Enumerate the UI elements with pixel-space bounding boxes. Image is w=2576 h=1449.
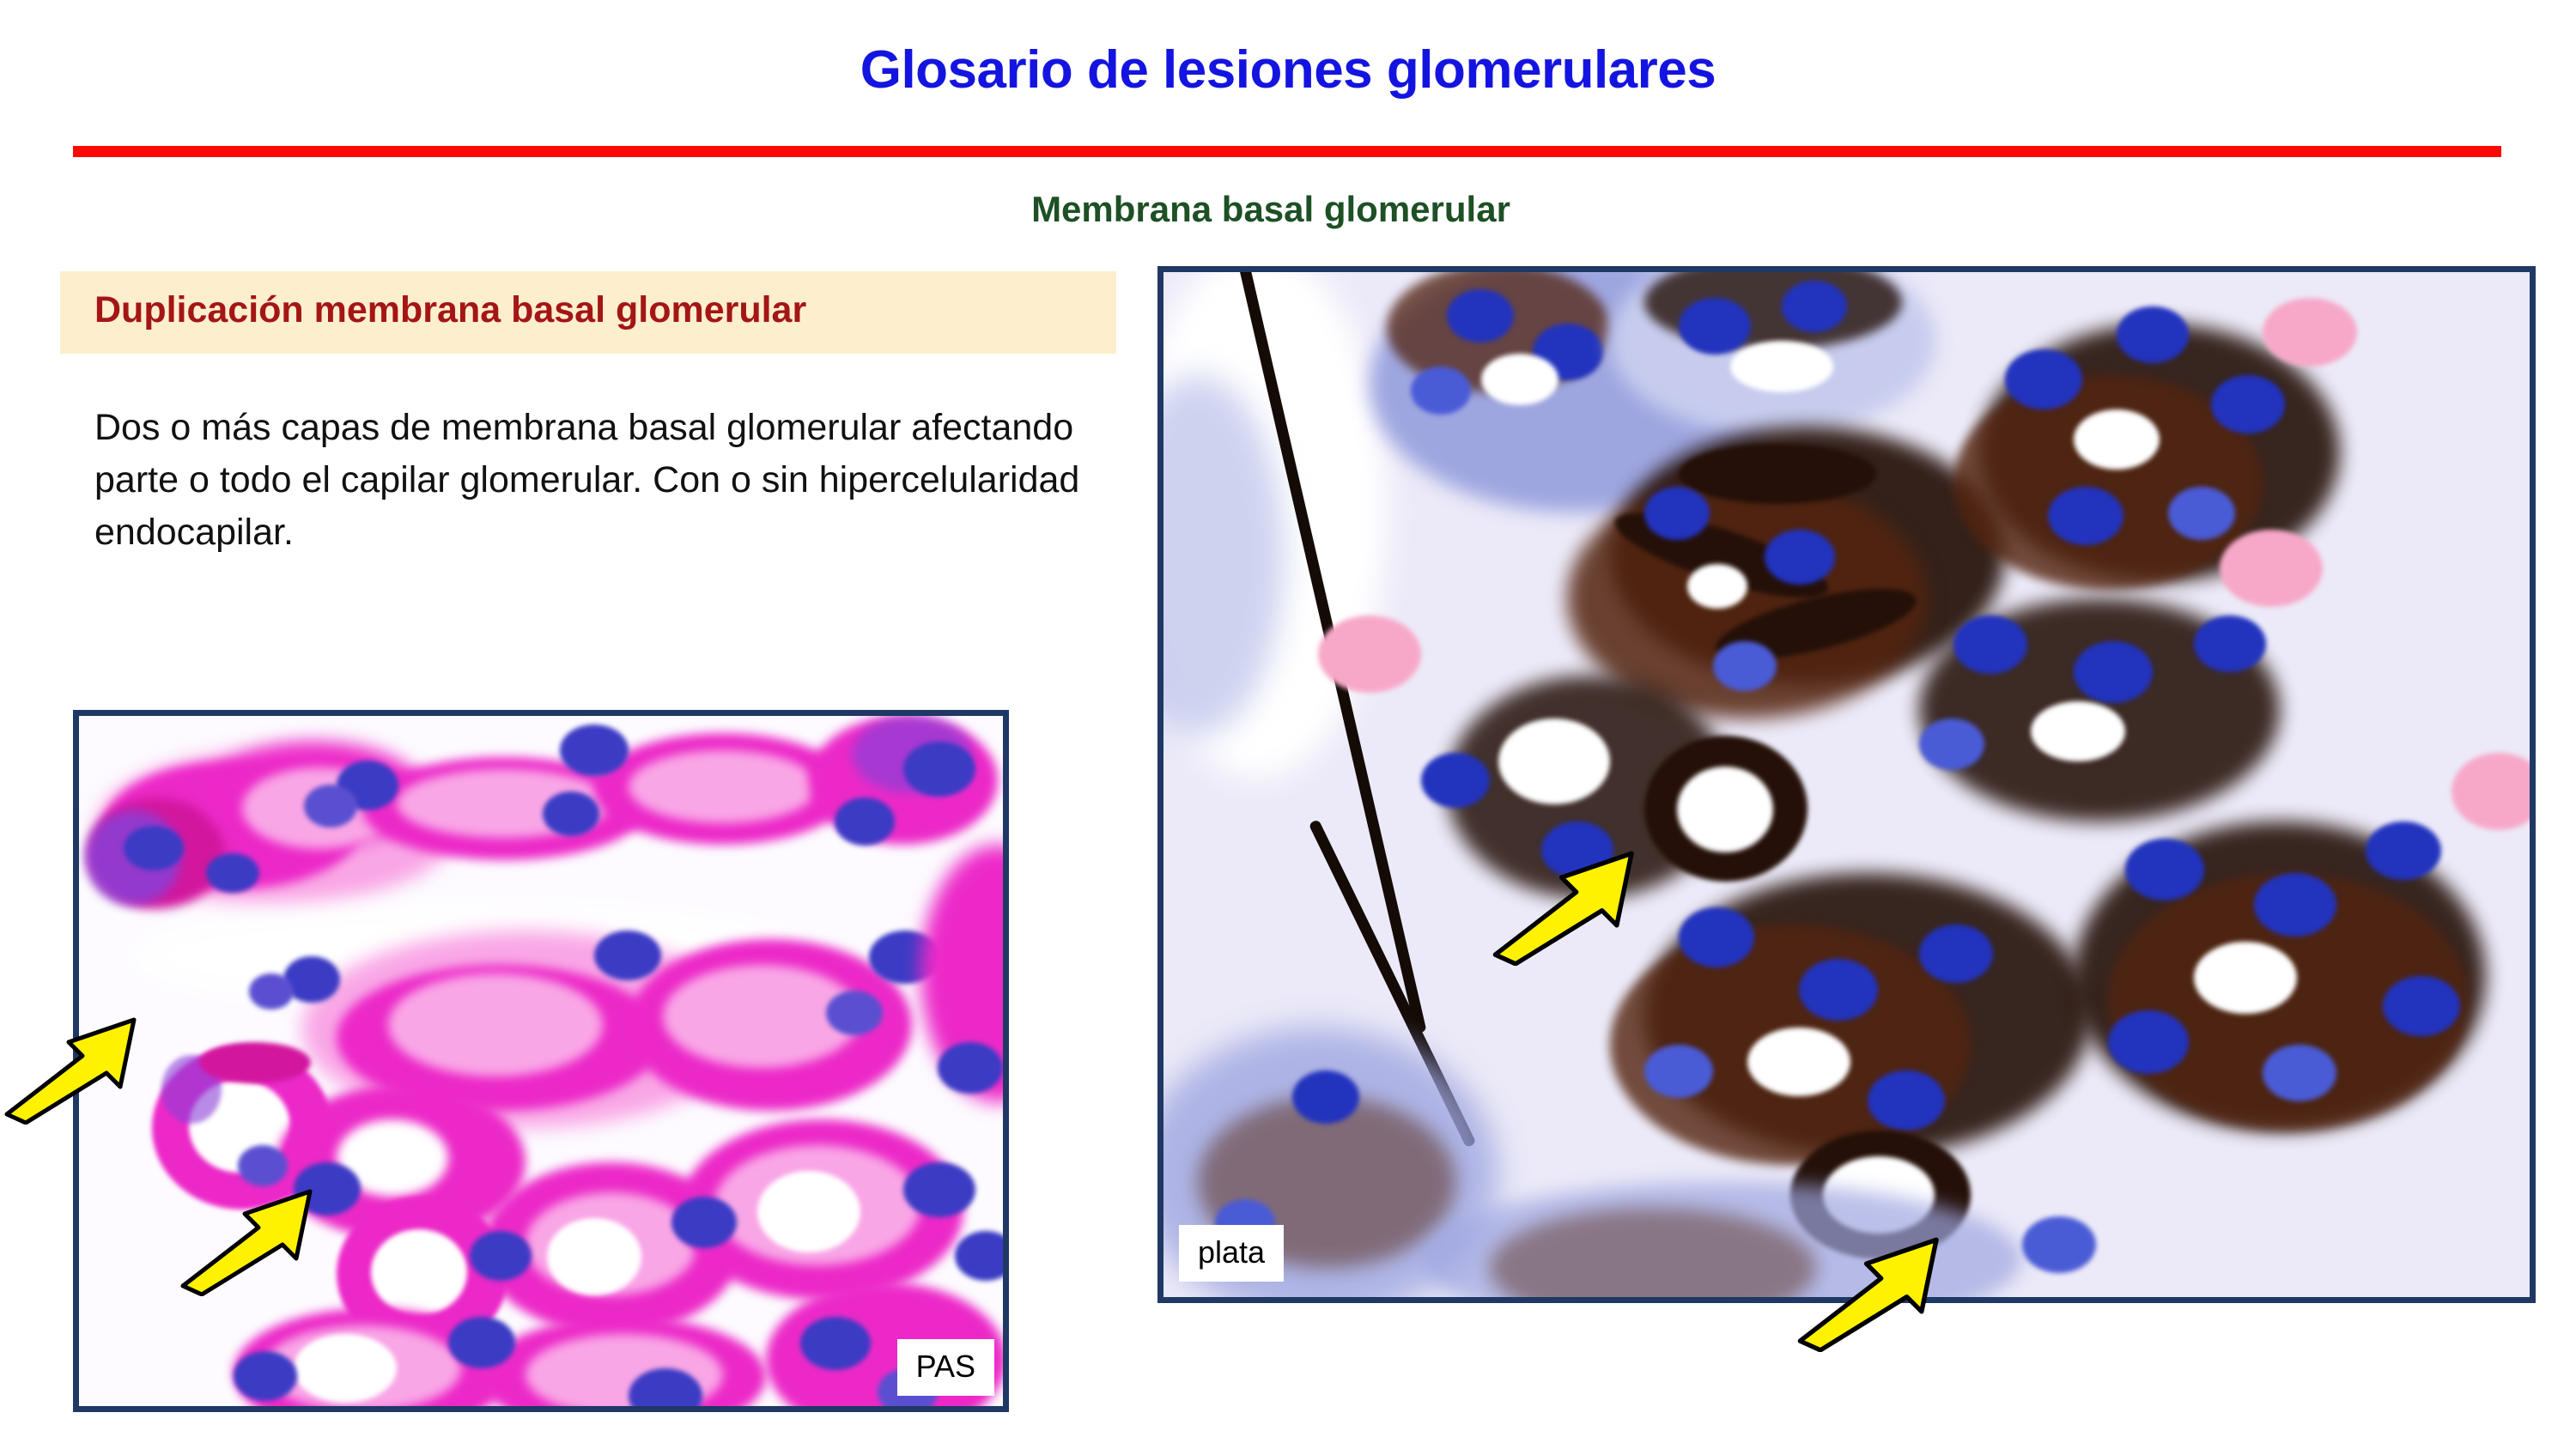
title-divider-rule bbox=[73, 146, 2501, 157]
silver-micrograph-canvas bbox=[1163, 272, 2530, 1297]
stain-label-plata: plata bbox=[1179, 1225, 1284, 1282]
pas-micrograph-canvas bbox=[79, 716, 1003, 1406]
silver-micrograph: plata bbox=[1157, 266, 2536, 1303]
term-highlight-band: Duplicación membrana basal glomerular bbox=[60, 271, 1116, 354]
definition-text: Dos o más capas de membrana basal glomer… bbox=[94, 402, 1116, 559]
pas-micrograph: PAS bbox=[73, 710, 1009, 1412]
page-title: Glosario de lesiones glomerulares bbox=[0, 39, 2576, 100]
term-heading: Duplicación membrana basal glomerular bbox=[94, 289, 806, 331]
stain-label-pas: PAS bbox=[897, 1339, 994, 1396]
section-subtitle: Membrana basal glomerular bbox=[601, 189, 1941, 230]
